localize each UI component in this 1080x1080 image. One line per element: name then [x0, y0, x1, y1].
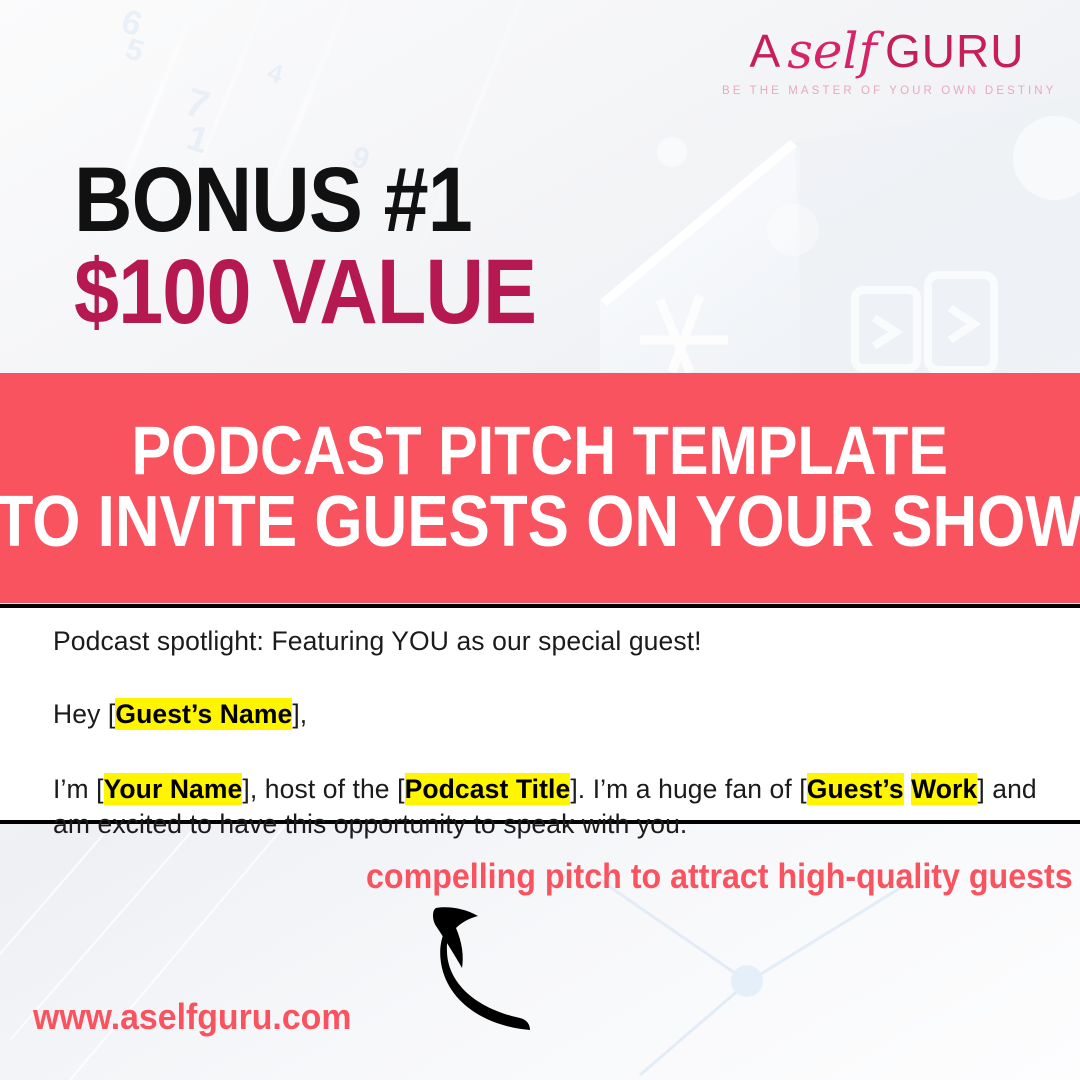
logo-letter-a: A — [750, 25, 782, 77]
promo-graphic-canvas: 6 5 7 1 4 9 AselfGURU BE THE MASTER OF Y… — [0, 0, 1080, 1080]
document-paragraph-intro: I’m [Your Name], host of the [Podcast Ti… — [53, 772, 1040, 842]
logo-tagline: BE THE MASTER OF YOUR OWN DESTINY — [722, 85, 1052, 97]
brand-logo: AselfGURU BE THE MASTER OF YOUR OWN DEST… — [722, 26, 1052, 97]
placeholder-your-name: Your Name — [104, 773, 243, 805]
banner-title-line-1: PODCAST PITCH TEMPLATE — [132, 416, 948, 486]
logo-word-guru: GURU — [885, 25, 1024, 77]
greeting-prefix: Hey [ — [53, 699, 115, 729]
document-paragraph-greeting: Hey [Guest’s Name], — [53, 697, 1040, 732]
background-digit: 4 — [264, 57, 287, 91]
document-paragraph-subject: Podcast spotlight: Featuring YOU as our … — [53, 624, 1040, 659]
placeholder-guest-name: Guest’s Name — [115, 698, 292, 730]
banner-title-line-2: (TO INVITE GUESTS ON YOUR SHOW) — [0, 486, 1080, 559]
headline-bonus: BONUS #1 — [74, 158, 536, 244]
logo-wordmark: AselfGURU — [722, 26, 1052, 76]
website-url: www.aselfguru.com — [33, 996, 351, 1038]
headline-value: $100 VALUE — [74, 250, 536, 336]
document-excerpt: Podcast spotlight: Featuring YOU as our … — [0, 604, 1080, 824]
intro-seg-3: ]. I’m a huge fan of [ — [570, 774, 806, 804]
placeholder-guests-work-part2: Work — [911, 773, 977, 805]
annotation-caption: compelling pitch to attract high-quality… — [366, 857, 1073, 897]
placeholder-podcast-title: Podcast Title — [405, 773, 571, 805]
placeholder-guests-work-part1: Guest’s — [807, 773, 904, 805]
headline-block: BONUS #1 $100 VALUE — [74, 158, 599, 335]
curved-arrow-icon — [412, 898, 542, 1038]
logo-script-self: self — [787, 22, 877, 80]
greeting-suffix: ], — [292, 699, 307, 729]
intro-seg-2: ], host of the [ — [242, 774, 404, 804]
intro-seg-1: I’m [ — [53, 774, 104, 804]
title-banner: PODCAST PITCH TEMPLATE (TO INVITE GUESTS… — [0, 373, 1080, 603]
